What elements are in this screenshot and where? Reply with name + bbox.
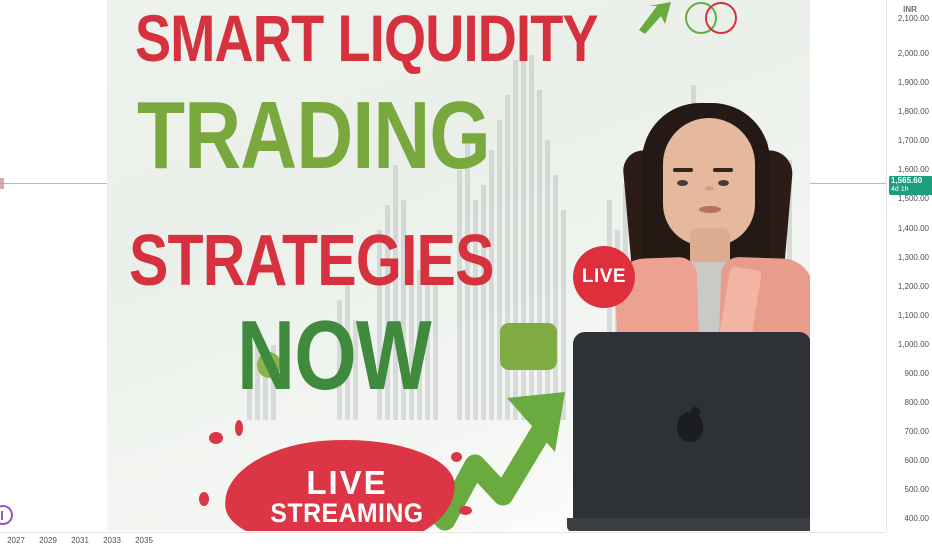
time-tick: 2031 bbox=[71, 536, 89, 545]
headline-line-4: NOW bbox=[237, 310, 431, 400]
live-streaming-line2: STREAMING bbox=[255, 499, 439, 527]
ring-red bbox=[705, 2, 737, 34]
countdown-value: 4d 1h bbox=[891, 186, 931, 194]
screenshot-root: LIVE STREAMING SMART LIQUIDITY TRADING S… bbox=[0, 0, 932, 550]
price-tick: 600.00 bbox=[887, 456, 929, 465]
price-tick: 700.00 bbox=[887, 427, 929, 436]
price-tick: 1,500.00 bbox=[887, 194, 929, 203]
price-tick: 400.00 bbox=[887, 514, 929, 523]
time-tick: 2035 bbox=[135, 536, 153, 545]
price-tick: 1,700.00 bbox=[887, 136, 929, 145]
price-tick: 1,200.00 bbox=[887, 282, 929, 291]
price-tick: 800.00 bbox=[887, 398, 929, 407]
time-axis[interactable]: 2027 2029 2031 2033 2035 bbox=[0, 532, 886, 550]
price-tick: 500.00 bbox=[887, 485, 929, 494]
time-tick: 2027 bbox=[7, 536, 25, 545]
live-streaming-line1: LIVE bbox=[247, 466, 447, 499]
live-oval-label: LIVE bbox=[582, 266, 626, 288]
live-oval-badge: LIVE bbox=[573, 246, 635, 308]
price-tick: 1,100.00 bbox=[887, 311, 929, 320]
price-tick: 900.00 bbox=[887, 369, 929, 378]
promo-image: LIVE STREAMING SMART LIQUIDITY TRADING S… bbox=[107, 0, 810, 531]
price-line-left-marker bbox=[0, 178, 4, 189]
price-axis[interactable]: INR 2,100.00 2,000.00 1,900.00 1,800.00 … bbox=[886, 0, 932, 532]
headline-line-1: SMART LIQUIDITY bbox=[135, 8, 598, 69]
headline-line-3: STRATEGIES bbox=[129, 228, 494, 294]
overlapping-rings-icon bbox=[685, 0, 747, 36]
price-tick: 1,300.00 bbox=[887, 253, 929, 262]
price-tick: 2,000.00 bbox=[887, 49, 929, 58]
price-tick: 1,800.00 bbox=[887, 107, 929, 116]
price-tick: 1,400.00 bbox=[887, 224, 929, 233]
promo-headline: SMART LIQUIDITY TRADING STRATEGIES NOW bbox=[107, 0, 810, 531]
time-tick: 2033 bbox=[103, 536, 121, 545]
price-tick: 1,000.00 bbox=[887, 340, 929, 349]
promo-icon-cluster: LIVE bbox=[635, 0, 810, 36]
live-streaming-text: LIVE STREAMING bbox=[247, 466, 447, 527]
current-price-tag[interactable]: 1,565.60 4d 1h bbox=[889, 176, 932, 195]
price-tick: 1,600.00 bbox=[887, 165, 929, 174]
green-arrow-icon bbox=[635, 0, 675, 34]
price-tick: 2,100.00 bbox=[887, 14, 929, 23]
currency-label: INR bbox=[887, 5, 932, 14]
chart-pane[interactable]: LIVE STREAMING SMART LIQUIDITY TRADING S… bbox=[0, 0, 886, 532]
time-tick: 2029 bbox=[39, 536, 57, 545]
headline-line-2: TRADING bbox=[137, 92, 490, 180]
current-price-value: 1,565.60 bbox=[891, 177, 931, 186]
price-tick: 1,900.00 bbox=[887, 78, 929, 87]
